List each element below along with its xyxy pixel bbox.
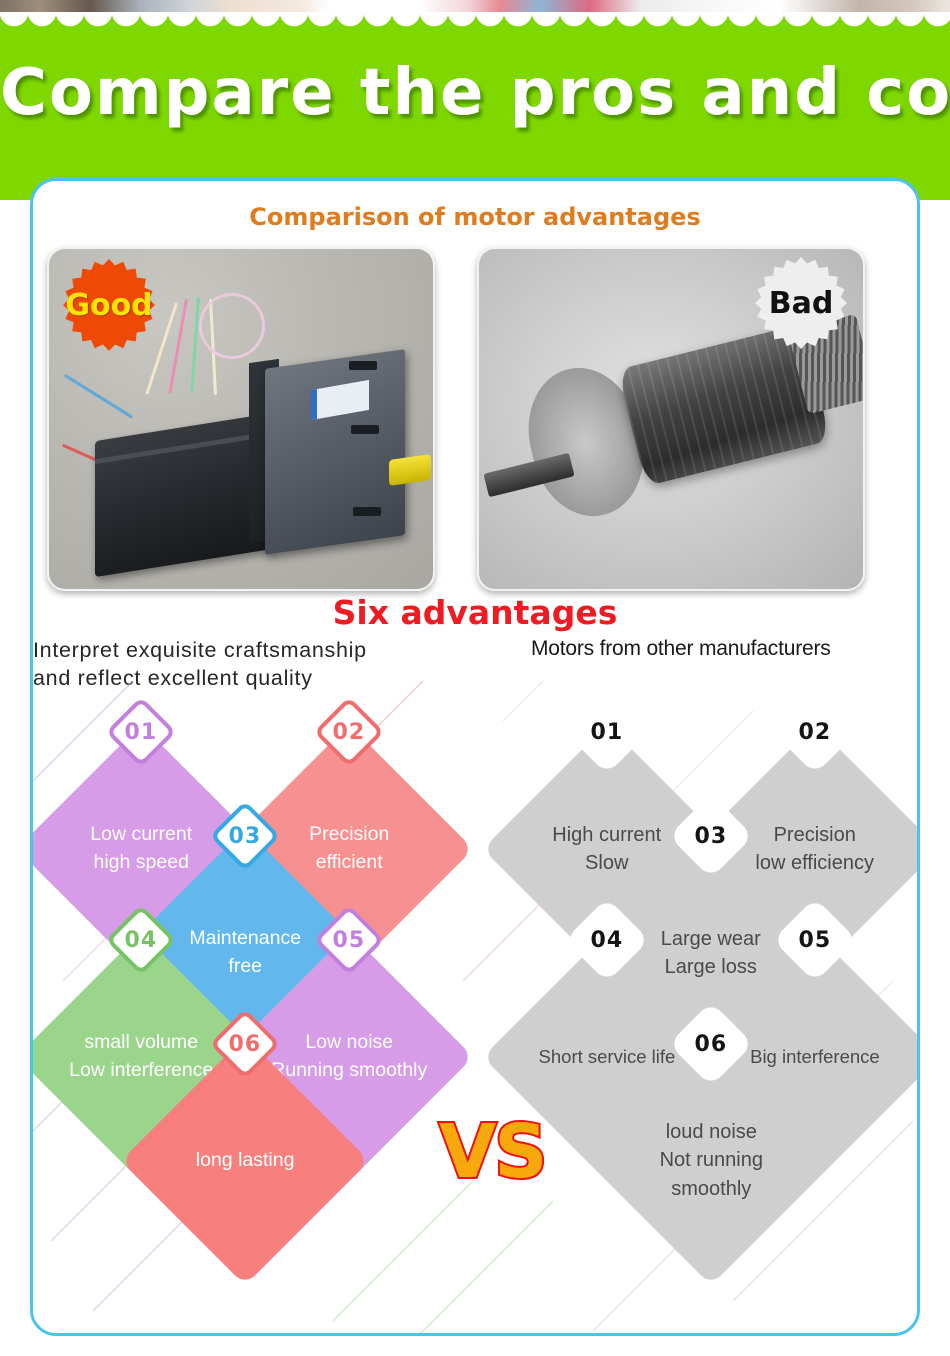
diamond-right-6-line3: smoothly <box>623 1175 799 1203</box>
scalloped-edge-decoration <box>0 12 950 34</box>
advantages-diamond-grid: Low current high speed Precision efficie… <box>30 681 461 1333</box>
card-subtitle: Comparison of motor advantages <box>33 203 917 231</box>
vs-label: VS <box>439 1109 546 1195</box>
bolt-3 <box>353 507 381 516</box>
diamond-right-4-line1: Short service life <box>519 1044 695 1070</box>
gearbox <box>265 349 405 555</box>
diamond-left-3-line1: Maintenance <box>157 925 333 953</box>
green-banner: Compare the pros and cons <box>0 12 950 200</box>
bolt-2 <box>351 425 379 434</box>
diamond-right-2-line1: Precision <box>727 821 903 849</box>
diamond-right-4-text: Short service life <box>519 1044 695 1070</box>
competitor-diamond-grid: High current Slow Precision low efficien… <box>487 681 920 1333</box>
diamond-left-1-line1: Low current <box>53 821 229 849</box>
diamond-right-2-text: Precision low efficiency <box>727 821 903 878</box>
diamond-left-3-text: Maintenance free <box>157 925 333 980</box>
six-advantages-title: Six advantages <box>33 593 917 632</box>
wire-loop <box>199 293 265 359</box>
diamond-left-6-line1: long lasting <box>157 1147 333 1175</box>
bolt-1 <box>349 361 377 370</box>
diamond-right-6-line2: Not running <box>623 1147 799 1175</box>
diamond-right-1-text: High current Slow <box>519 821 695 878</box>
diamond-right-5-text: Big interference <box>727 1044 903 1070</box>
diamond-left-5-line1: Low noise <box>261 1029 437 1057</box>
bad-motor-photo: Bad <box>477 247 865 591</box>
right-column-subtitle: Motors from other manufacturers <box>531 637 920 661</box>
diamond-right-5-line1: Big interference <box>727 1044 903 1070</box>
diamond-left-4-line1: small volume <box>53 1029 229 1057</box>
diamond-right-3-text: Large wear Large loss <box>623 925 799 982</box>
left-subtitle-line1: Interpret exquisite craftsmanship <box>33 637 533 665</box>
diamond-left-2-text: Precision efficient <box>261 821 437 876</box>
top-image-strip <box>0 0 950 12</box>
diamond-right-6-text: loud noise Not running smoothly <box>623 1118 799 1203</box>
diamond-left-2-line1: Precision <box>261 821 437 849</box>
comparison-diagram: Low current high speed Precision efficie… <box>33 681 917 1333</box>
diamond-left-6-text: long lasting <box>157 1147 333 1175</box>
diamond-left-5-text: Low noise Running smoothly <box>261 1029 437 1084</box>
diamond-left-4-text: small volume Low interference <box>53 1029 229 1084</box>
good-badge-label: Good <box>65 288 152 323</box>
good-motor-photo: Good <box>47 247 435 591</box>
bad-badge-label: Bad <box>769 286 834 321</box>
comparison-card: Comparison of motor advantages Good B <box>30 178 920 1336</box>
diamond-right-6-line1: loud noise <box>623 1118 799 1146</box>
diamond-right-1-line1: High current <box>519 821 695 849</box>
page-title: Compare the pros and cons <box>0 56 950 130</box>
diamond-right-3-line1: Large wear <box>623 925 799 953</box>
diamond-left-1-text: Low current high speed <box>53 821 229 876</box>
